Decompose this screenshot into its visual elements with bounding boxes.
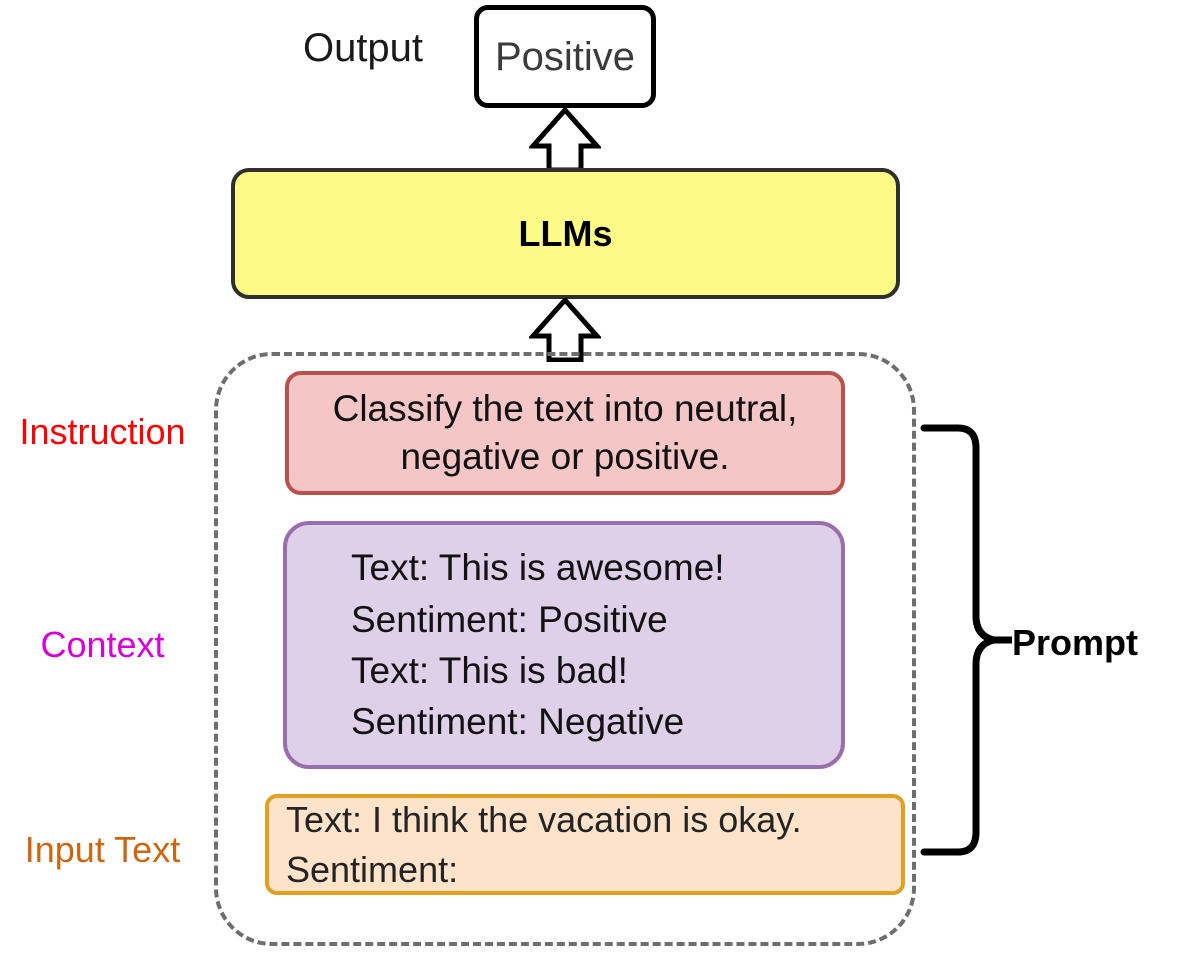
- context-line-2: Sentiment: Positive: [351, 594, 668, 645]
- section-label-input-text: Input Text: [0, 832, 205, 868]
- context-line-4: Sentiment: Negative: [351, 696, 684, 747]
- output-value-text: Positive: [495, 37, 635, 77]
- llms-label: LLMs: [519, 216, 613, 252]
- input-text-line-2: Sentiment:: [286, 845, 458, 895]
- curly-brace-right-icon: [920, 420, 1012, 860]
- context-line-3: Text: This is bad!: [351, 645, 628, 696]
- instruction-line-2: negative or positive.: [400, 433, 729, 481]
- output-label: Output: [268, 28, 458, 68]
- diagram-canvas: Output Positive LLMs Instruction Classif…: [0, 0, 1200, 961]
- instruction-box: Classify the text into neutral, negative…: [285, 371, 845, 495]
- input-text-box: Text: I think the vacation is okay. Sent…: [265, 794, 905, 895]
- context-line-1: Text: This is awesome!: [351, 542, 725, 593]
- prompt-label: Prompt: [1012, 625, 1182, 661]
- output-value-box: Positive: [474, 5, 656, 108]
- section-label-context: Context: [0, 627, 205, 663]
- arrow-up-icon-llm-to-output: [529, 108, 601, 172]
- input-text-line-1: Text: I think the vacation is okay.: [286, 795, 802, 845]
- context-box: Text: This is awesome! Sentiment: Positi…: [283, 521, 845, 769]
- llms-box: LLMs: [231, 168, 900, 299]
- section-label-instruction: Instruction: [0, 414, 205, 450]
- instruction-line-1: Classify the text into neutral,: [333, 385, 798, 433]
